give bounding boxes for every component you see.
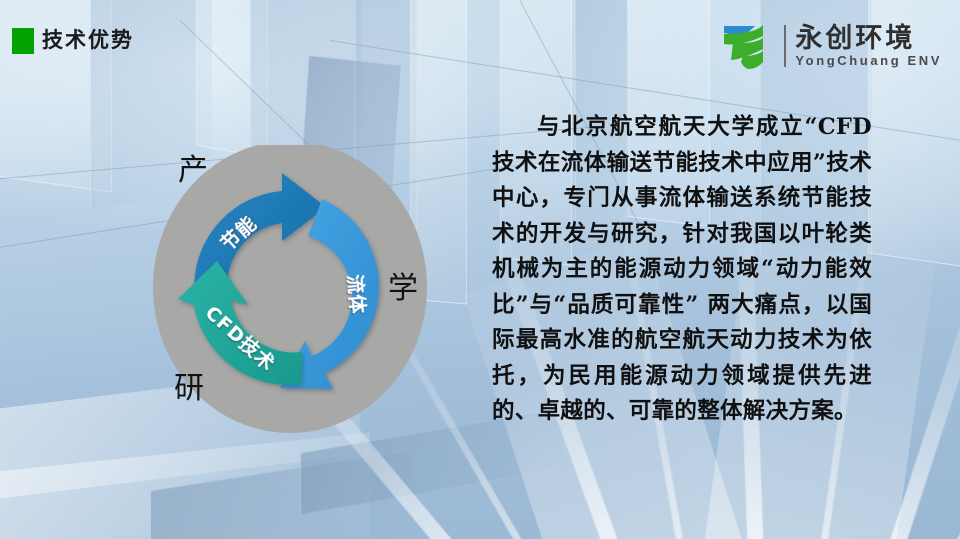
cycle-diagram: 节能 流体 CFD技术 产 学 研 <box>150 145 430 441</box>
diagram-outer-label-yan: 研 <box>174 373 204 405</box>
presentation-slide: 技术优势 永创环境 YongChuang ENV <box>0 0 960 539</box>
diagram-arrow-label-fluid: 流体 <box>343 273 369 315</box>
logo-name-cn: 永创环境 <box>795 24 942 53</box>
background-light-streak <box>865 217 960 539</box>
diagram-outer-label-xue: 学 <box>388 273 418 305</box>
background-light-streak <box>952 283 960 539</box>
background-floor-plane <box>0 432 370 539</box>
header-marker <box>12 28 34 54</box>
body-paragraph: 与北京航空航天大学成立“CFD技术在流体输送节能技术中应用”技术中心，专门从事流… <box>492 110 872 430</box>
company-logo: 永创环境 YongChuang ENV <box>721 20 942 72</box>
logo-text: 永创环境 YongChuang ENV <box>795 24 942 68</box>
diagram-outer-label-chan: 产 <box>178 155 208 187</box>
background-slab <box>150 449 412 539</box>
logo-name-en: YongChuang ENV <box>795 53 942 68</box>
green-leaf-swoosh-icon <box>721 22 775 70</box>
background-light-streak <box>915 247 960 539</box>
page-title: 技术优势 <box>42 27 134 54</box>
logo-divider <box>784 25 786 67</box>
background-slab <box>196 0 268 158</box>
